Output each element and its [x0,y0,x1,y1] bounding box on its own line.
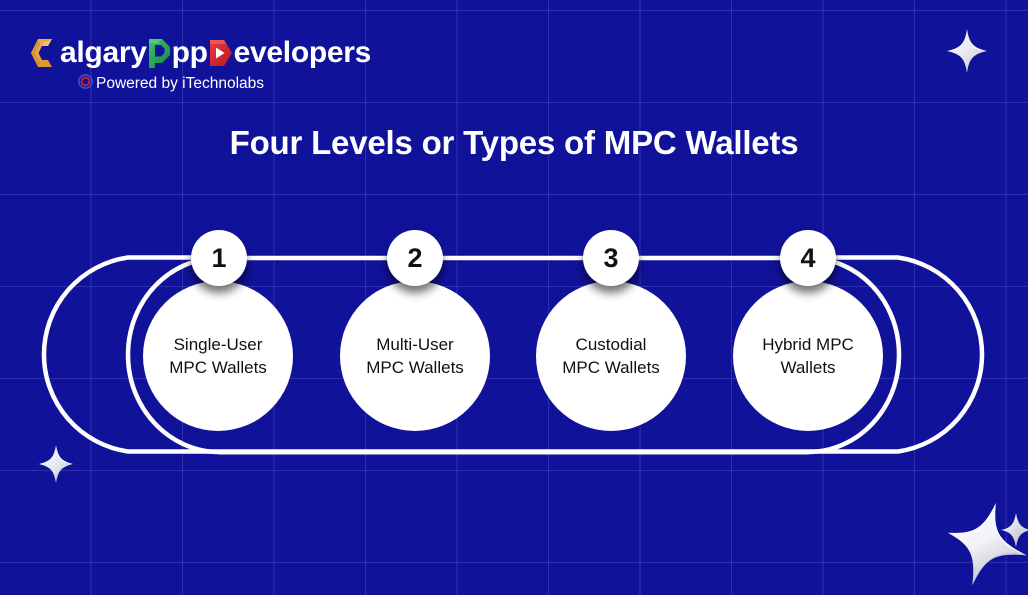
step-bubble-2[interactable]: Multi-User MPC Wallets [340,281,490,431]
diagram-vector-layer [0,0,1028,595]
step-badge-4-number: 4 [800,243,815,274]
step-3-line2: MPC Wallets [562,358,660,377]
mpc-wallet-levels-diagram: Single-User MPC Wallets 1 Multi-User MPC… [0,0,1028,595]
step-bubble-4-label: Hybrid MPC Wallets [762,333,854,379]
step-bubble-3-label: Custodial MPC Wallets [562,333,660,379]
step-bubble-1-label: Single-User MPC Wallets [169,333,267,379]
step-3-line1: Custodial [576,335,647,354]
step-bubble-3[interactable]: Custodial MPC Wallets [536,281,686,431]
step-1-line2: MPC Wallets [169,358,267,377]
step-badge-1-number: 1 [211,243,226,274]
infographic-canvas: algary pp [0,0,1028,595]
star-bottom-right-small [1000,512,1028,548]
step-badge-2[interactable]: 2 [387,230,443,286]
step-badge-3[interactable]: 3 [583,230,639,286]
star-left-bottom [38,444,74,484]
star-top-right [946,28,988,74]
step-2-line1: Multi-User [376,335,453,354]
step-bubble-1[interactable]: Single-User MPC Wallets [143,281,293,431]
step-badge-3-number: 3 [603,243,618,274]
step-bubble-2-label: Multi-User MPC Wallets [366,333,464,379]
step-2-line2: MPC Wallets [366,358,464,377]
step-4-line2: Wallets [780,358,835,377]
step-1-line1: Single-User [174,335,263,354]
step-bubble-4[interactable]: Hybrid MPC Wallets [733,281,883,431]
step-4-line1: Hybrid MPC [762,335,854,354]
step-badge-4[interactable]: 4 [780,230,836,286]
step-badge-1[interactable]: 1 [191,230,247,286]
step-badge-2-number: 2 [407,243,422,274]
